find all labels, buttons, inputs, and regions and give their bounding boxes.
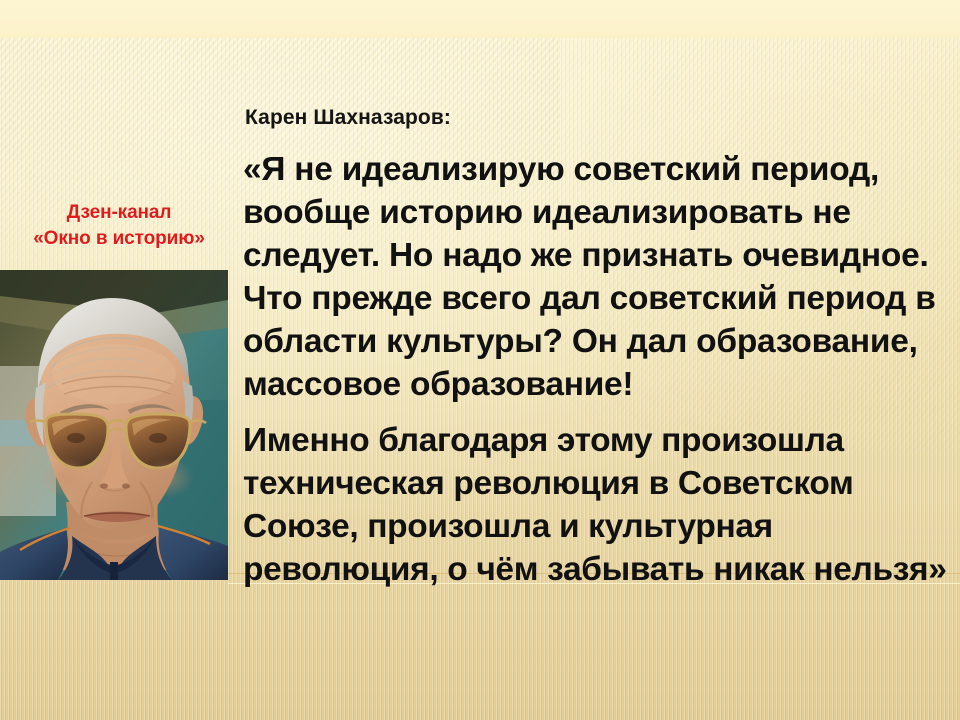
quote-paragraph: Именно благодаря этому произошла техниче…: [243, 419, 949, 591]
quote-paragraph: «Я не идеализирую советский период, вооб…: [243, 148, 949, 406]
portrait-photo: [0, 270, 228, 580]
branding-line-1: Дзен-канал: [67, 202, 172, 223]
channel-branding: Дзен-канал «Окно в историю»: [0, 200, 238, 252]
branding-line-2: «Окно в историю»: [0, 226, 238, 252]
background-top-band: [0, 0, 960, 38]
quote-block: Карен Шахназаров: «Я не идеализирую сове…: [243, 106, 949, 591]
slide-canvas: Дзен-канал «Окно в историю»: [0, 0, 960, 720]
quote-attribution: Карен Шахназаров:: [245, 106, 949, 130]
